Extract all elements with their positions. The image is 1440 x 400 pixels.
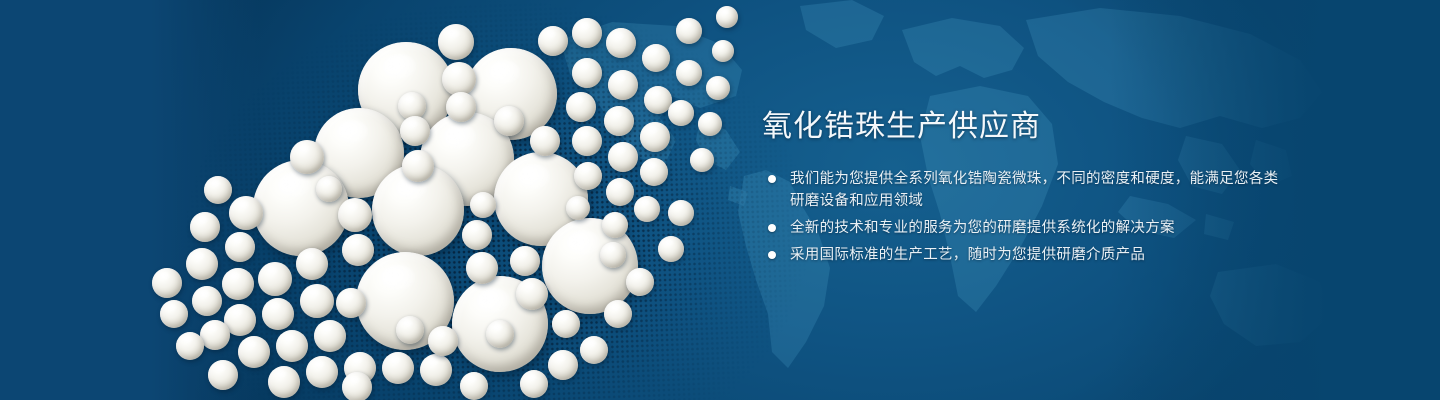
hero-banner: 氧化锆珠生产供应商 我们能为您提供全系列氧化锆陶瓷微珠，不同的密度和硬度，能满足… — [0, 0, 1440, 400]
feature-list-item: 我们能为您提供全系列氧化锆陶瓷微珠，不同的密度和硬度，能满足您各类研磨设备和应用… — [762, 168, 1282, 212]
feature-text: 采用国际标准的生产工艺，随时为您提供研磨介质产品 — [790, 244, 1282, 266]
feature-list-item: 全新的技术和专业的服务为您的研磨提供系统化的解决方案 — [762, 217, 1282, 239]
feature-text: 全新的技术和专业的服务为您的研磨提供系统化的解决方案 — [790, 217, 1282, 239]
feature-list-item: 采用国际标准的生产工艺，随时为您提供研磨介质产品 — [762, 244, 1282, 266]
bullet-dot-icon — [768, 175, 776, 183]
background-left-fill — [0, 0, 260, 400]
bullet-dot-icon — [768, 224, 776, 232]
bullet-dot-icon — [768, 251, 776, 259]
banner-feature-list: 我们能为您提供全系列氧化锆陶瓷微珠，不同的密度和硬度，能满足您各类研磨设备和应用… — [762, 168, 1282, 266]
banner-headline: 氧化锆珠生产供应商 — [762, 110, 1282, 144]
feature-text: 我们能为您提供全系列氧化锆陶瓷微珠，不同的密度和硬度，能满足您各类研磨设备和应用… — [790, 168, 1282, 212]
banner-text-block: 氧化锆珠生产供应商 我们能为您提供全系列氧化锆陶瓷微珠，不同的密度和硬度，能满足… — [762, 110, 1282, 271]
